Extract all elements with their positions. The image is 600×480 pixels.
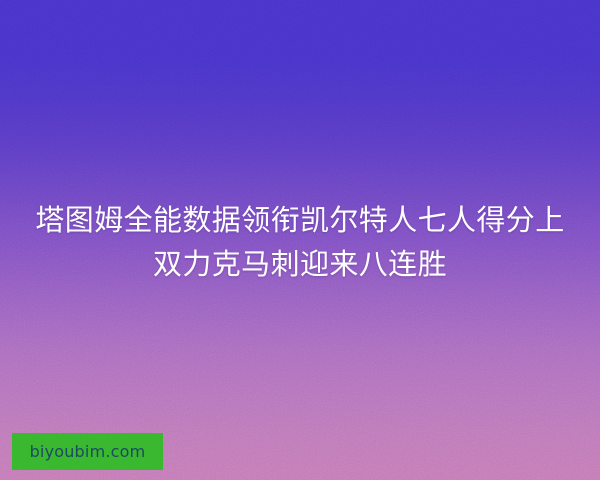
watermark-badge: biyoubim.com [12,433,163,470]
watermark-label: biyoubim.com [30,444,146,460]
headline-line-1: 塔图姆全能数据领衔凯尔特人七人得分上 [22,198,578,242]
headline-title: 塔图姆全能数据领衔凯尔特人七人得分上 双力克马刺迎来八连胜 [0,198,600,286]
headline-line-2: 双力克马刺迎来八连胜 [22,242,578,286]
news-banner-image: 塔图姆全能数据领衔凯尔特人七人得分上 双力克马刺迎来八连胜 biyoubim.c… [0,0,600,480]
